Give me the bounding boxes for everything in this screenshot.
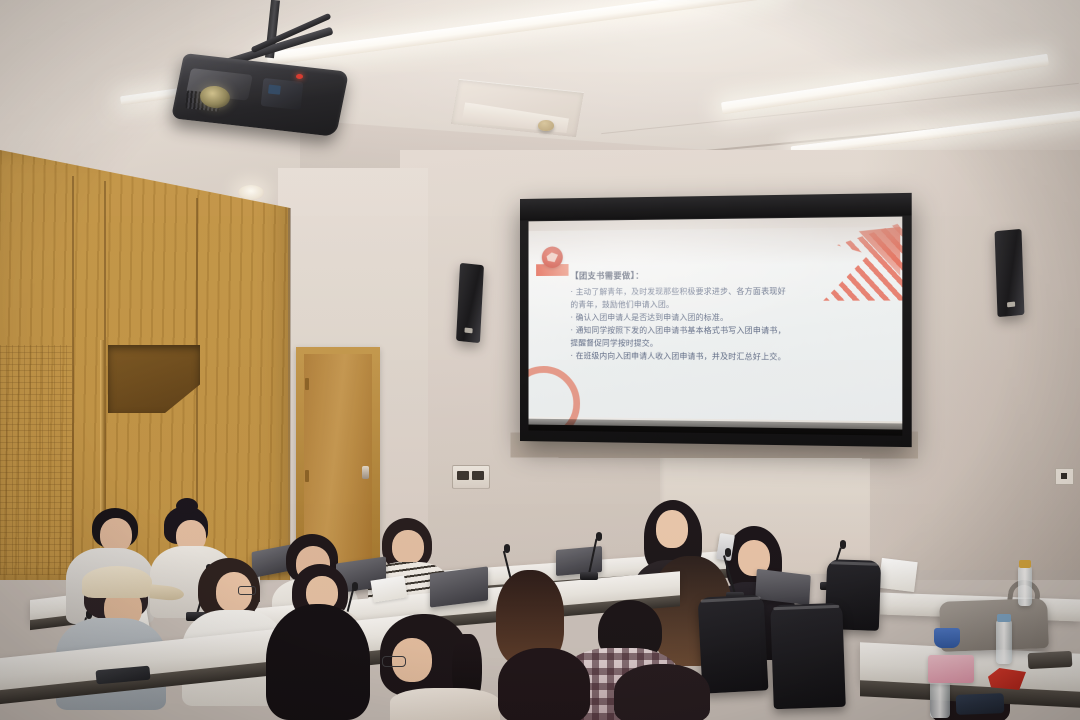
smoke-detector-icon — [538, 120, 554, 131]
screen-surface: 【团支书需要做】： · 主动了解青年，及时发现那些积极要求进步、各方面表现好 的… — [529, 217, 903, 430]
handout-paper[interactable] — [878, 558, 917, 592]
hair — [266, 604, 370, 720]
projector-control-panel[interactable] — [261, 78, 304, 110]
hair — [498, 648, 590, 720]
slide-line: · 通知同学按照下发的入团申请书基本格式书写入团申请书， — [570, 325, 879, 338]
bottle-cap-icon — [1019, 560, 1031, 568]
wall-outlet-single[interactable] — [1055, 468, 1074, 485]
pink-package[interactable] — [928, 655, 974, 683]
classroom-photo-scene: 【团支书需要做】： · 主动了解青年，及时发现那些积极要求进步、各方面表现好 的… — [0, 0, 1080, 720]
wall-speaker-left — [456, 263, 484, 343]
recessed-downlight-1 — [238, 185, 264, 200]
water-bottle[interactable] — [1018, 566, 1032, 606]
perforated-acoustic-panel — [0, 345, 72, 575]
laptop[interactable] — [755, 569, 810, 605]
projection-screen: 【团支书需要做】： · 主动了解青年，及时发现那些积极要求进步、各方面表现好 的… — [520, 193, 912, 447]
door-hinge-icon — [305, 378, 309, 390]
torso — [390, 688, 500, 720]
door-hinge-icon — [305, 470, 309, 482]
youth-league-emblem-icon — [542, 246, 563, 268]
mic-head-icon — [352, 582, 358, 591]
smartphone-on-table[interactable] — [956, 693, 1005, 715]
blue-cup[interactable] — [934, 628, 960, 648]
hair — [614, 664, 710, 720]
baseball-cap-icon — [82, 566, 152, 598]
wood-panel-seam — [72, 176, 74, 576]
mic-head-icon — [840, 540, 846, 549]
dark-item-on-table[interactable] — [1028, 651, 1073, 669]
wall-outlet-double[interactable] — [452, 465, 490, 489]
presentation-slide: 【团支书需要做】： · 主动了解青年，及时发现那些积极要求进步、各方面表现好 的… — [529, 227, 903, 422]
chair-1[interactable] — [698, 594, 769, 693]
mic-head-icon — [504, 544, 510, 553]
slide-text-block: 【团支书需要做】： · 主动了解青年，及时发现那些积极要求进步、各方面表现好 的… — [570, 268, 879, 365]
mic-base — [580, 572, 598, 580]
slide-heading: 【团支书需要做】： — [570, 268, 879, 282]
door-handle-icon[interactable] — [362, 466, 369, 479]
slide-line: · 确认入团申请人是否达到申请入团的标准。 — [570, 312, 879, 325]
speaker-led-icon — [464, 328, 472, 334]
bottle-cap-icon — [997, 614, 1011, 622]
mic-head-icon — [725, 548, 731, 557]
eyeglasses-icon — [382, 656, 406, 667]
slide-line: · 在班级内向入团申请人收入团申请书，并及时汇总好上交。 — [570, 350, 879, 364]
mic-head-icon — [596, 532, 602, 541]
wall-speaker-right — [995, 229, 1025, 317]
water-bottle[interactable] — [996, 620, 1012, 664]
chair-2[interactable] — [770, 603, 846, 709]
head — [392, 530, 424, 564]
speaker-led-icon — [1007, 302, 1015, 308]
slide-line: 的青年，鼓励他们申请入团。 — [570, 299, 879, 313]
slide-line: · 主动了解青年，及时发现那些积极要求进步、各方面表现好 — [570, 285, 879, 299]
hair-bun-top — [176, 498, 198, 514]
head — [656, 510, 688, 548]
head — [100, 518, 132, 552]
eyeglasses-icon — [238, 586, 256, 595]
laptop[interactable] — [430, 566, 488, 607]
wall-corner-line — [288, 208, 291, 570]
slide-line: 提醒督促同学按时提交。 — [570, 337, 879, 351]
projector-power-led-icon — [296, 74, 303, 79]
